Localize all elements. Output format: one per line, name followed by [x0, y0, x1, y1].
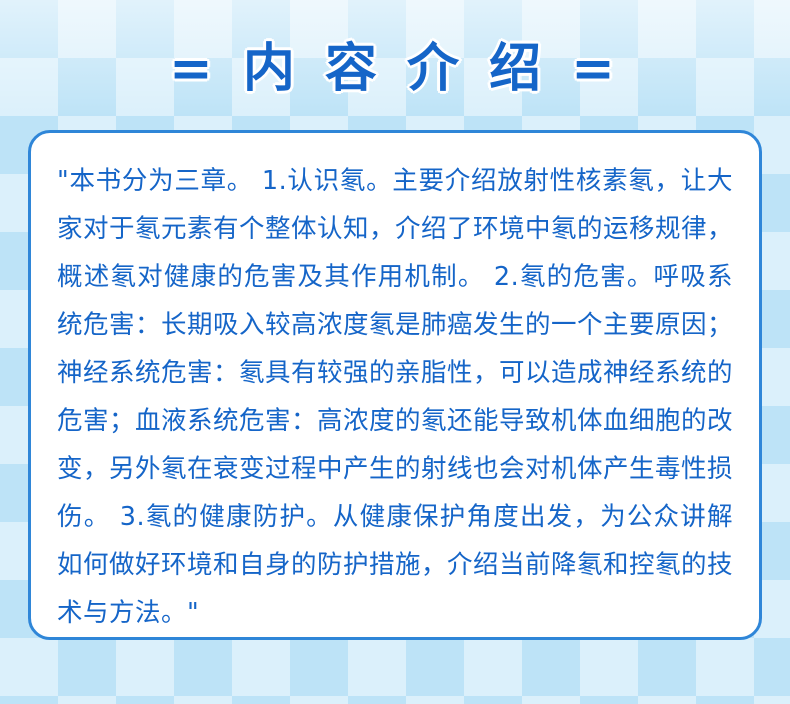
promo-page: = 内 容 介 绍 = "本书分为三章。 1.认识氡。主要介绍放射性核素氡，让大… — [0, 0, 790, 704]
content-card: "本书分为三章。 1.认识氡。主要介绍放射性核素氡，让大家对于氡元素有个整体认知… — [28, 130, 762, 640]
page-title: = 内 容 介 绍 = — [169, 26, 621, 101]
content-description-text: "本书分为三章。 1.认识氡。主要介绍放射性核素氡，让大家对于氡元素有个整体认知… — [57, 157, 733, 637]
page-title-container: = 内 容 介 绍 = — [0, 26, 790, 101]
